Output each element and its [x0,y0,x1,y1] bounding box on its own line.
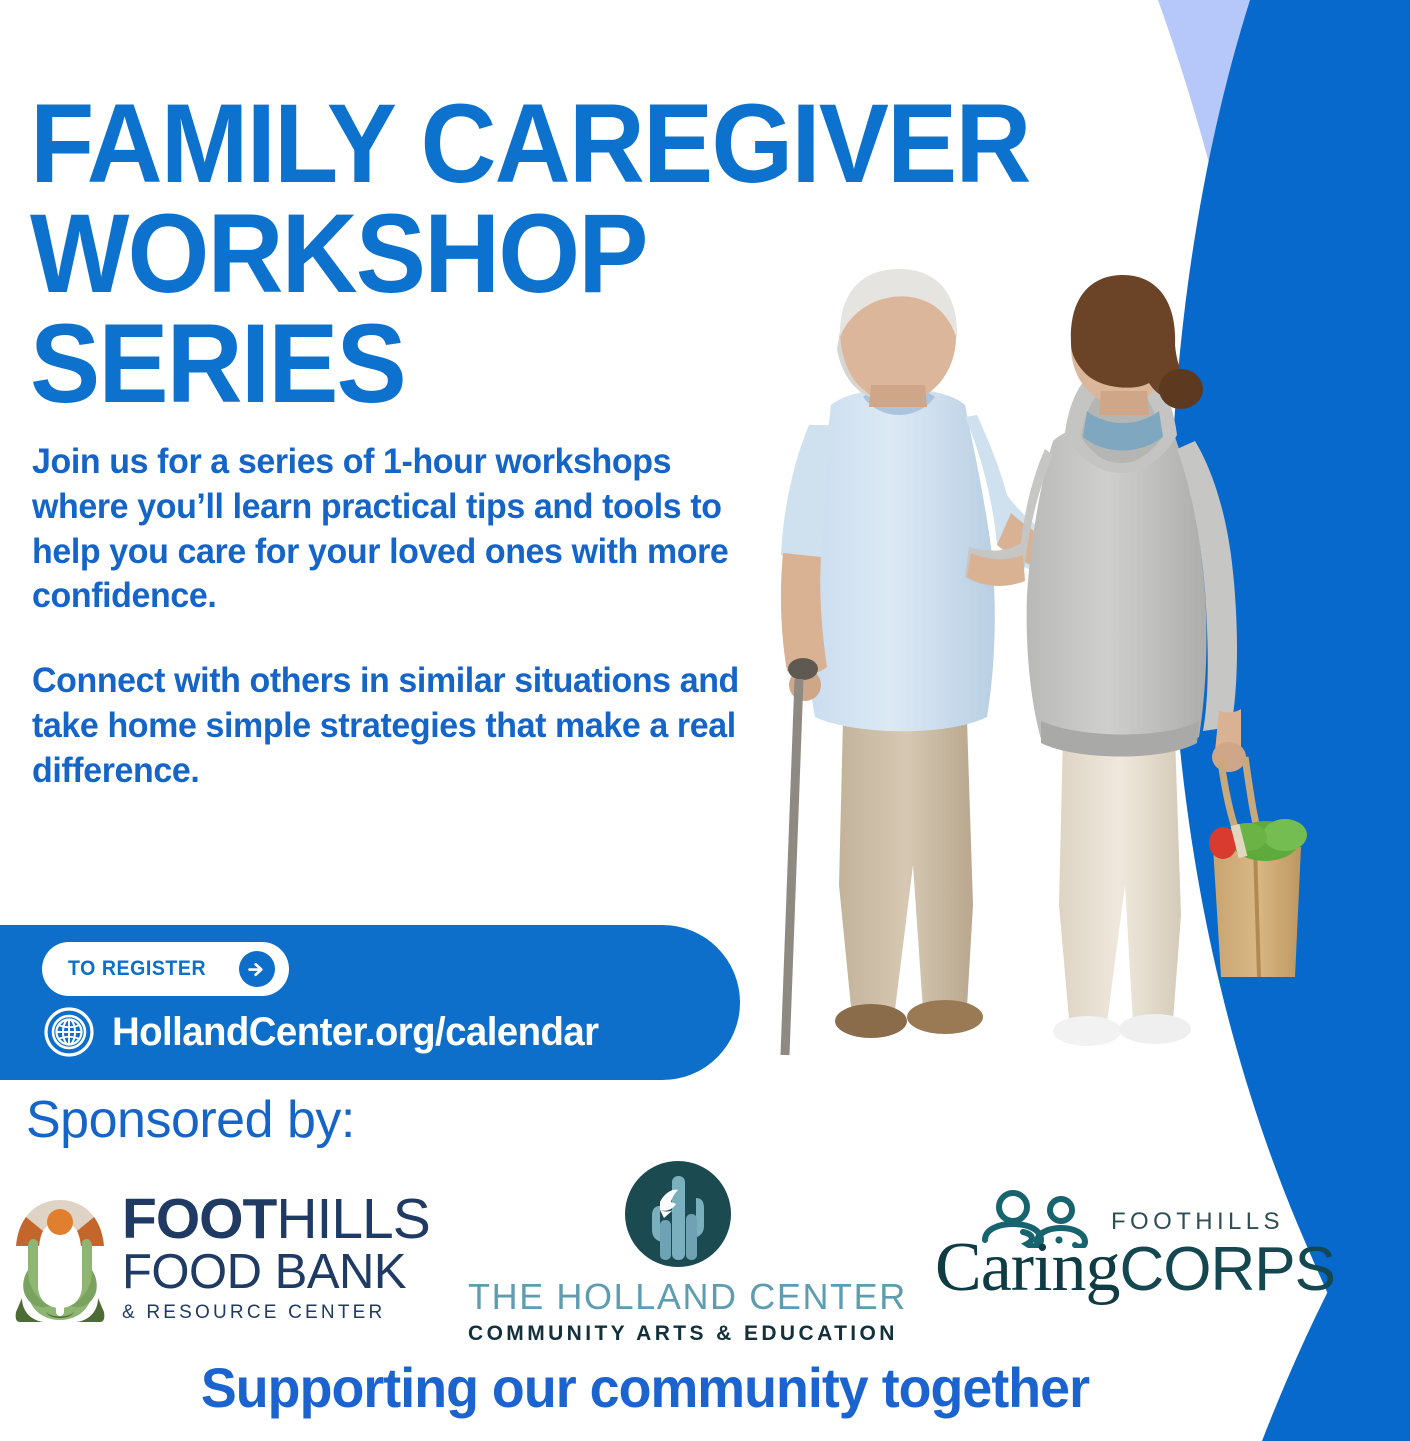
cactus-bird-circle-emblem [624,1160,732,1268]
arrow-right-icon [239,951,275,987]
caring-corps-corps: CORPS [1120,1235,1335,1304]
caring-corps-wordmark: CaringCORPS [935,1228,1335,1308]
ffb-line-1-light: HILLS [276,1187,429,1251]
headline-line-1: FAMILY CAREGIVER [30,89,1243,199]
globe-icon [44,1007,94,1057]
registration-cta-panel[interactable]: TO REGISTER [0,925,740,1080]
holland-center-tagline: COMMUNITY ARTS & EDUCATION [468,1322,888,1346]
ffb-line-1-bold: FOOT [122,1187,276,1251]
ffb-line-3: & RESOURCE CENTER [122,1302,422,1324]
to-register-label: TO REGISTER [68,957,206,981]
hand-fork-sun-emblem [10,1190,110,1325]
sponsored-by-heading: Sponsored by: [26,1090,355,1150]
caring-corps-caring: Caring [935,1229,1120,1306]
body-paragraph-2: Connect with others in similar situation… [32,659,769,793]
holland-center-name: THE HOLLAND CENTER [468,1276,888,1318]
website-link[interactable]: HollandCenter.org/calendar [44,1007,619,1057]
to-register-button[interactable]: TO REGISTER [42,942,289,996]
headline-line-2: WORKSHOP [30,199,1243,309]
ffb-line-1: FOOTHILLS [122,1192,422,1247]
flyer-poster: FAMILY CAREGIVER WORKSHOP SERIES [0,0,1410,1441]
website-url: HollandCenter.org/calendar [112,1010,598,1055]
body-paragraph-1: Join us for a series of 1-hour workshops… [32,440,769,619]
page-title: FAMILY CAREGIVER WORKSHOP SERIES [30,89,1243,418]
body-copy: Join us for a series of 1-hour workshops… [32,440,792,794]
ffb-line-2: FOOD BANK [122,1247,422,1298]
bottom-tagline: Supporting our community together [26,1355,1264,1420]
headline-line-3: SERIES [30,309,1243,419]
sponsor-logos: FOOTHILLS FOOD BANK & RESOURCE CENTER [0,1160,1360,1340]
sponsor-logo-the-holland-center: THE HOLLAND CENTER COMMUNITY ARTS & EDUC… [468,1160,888,1346]
